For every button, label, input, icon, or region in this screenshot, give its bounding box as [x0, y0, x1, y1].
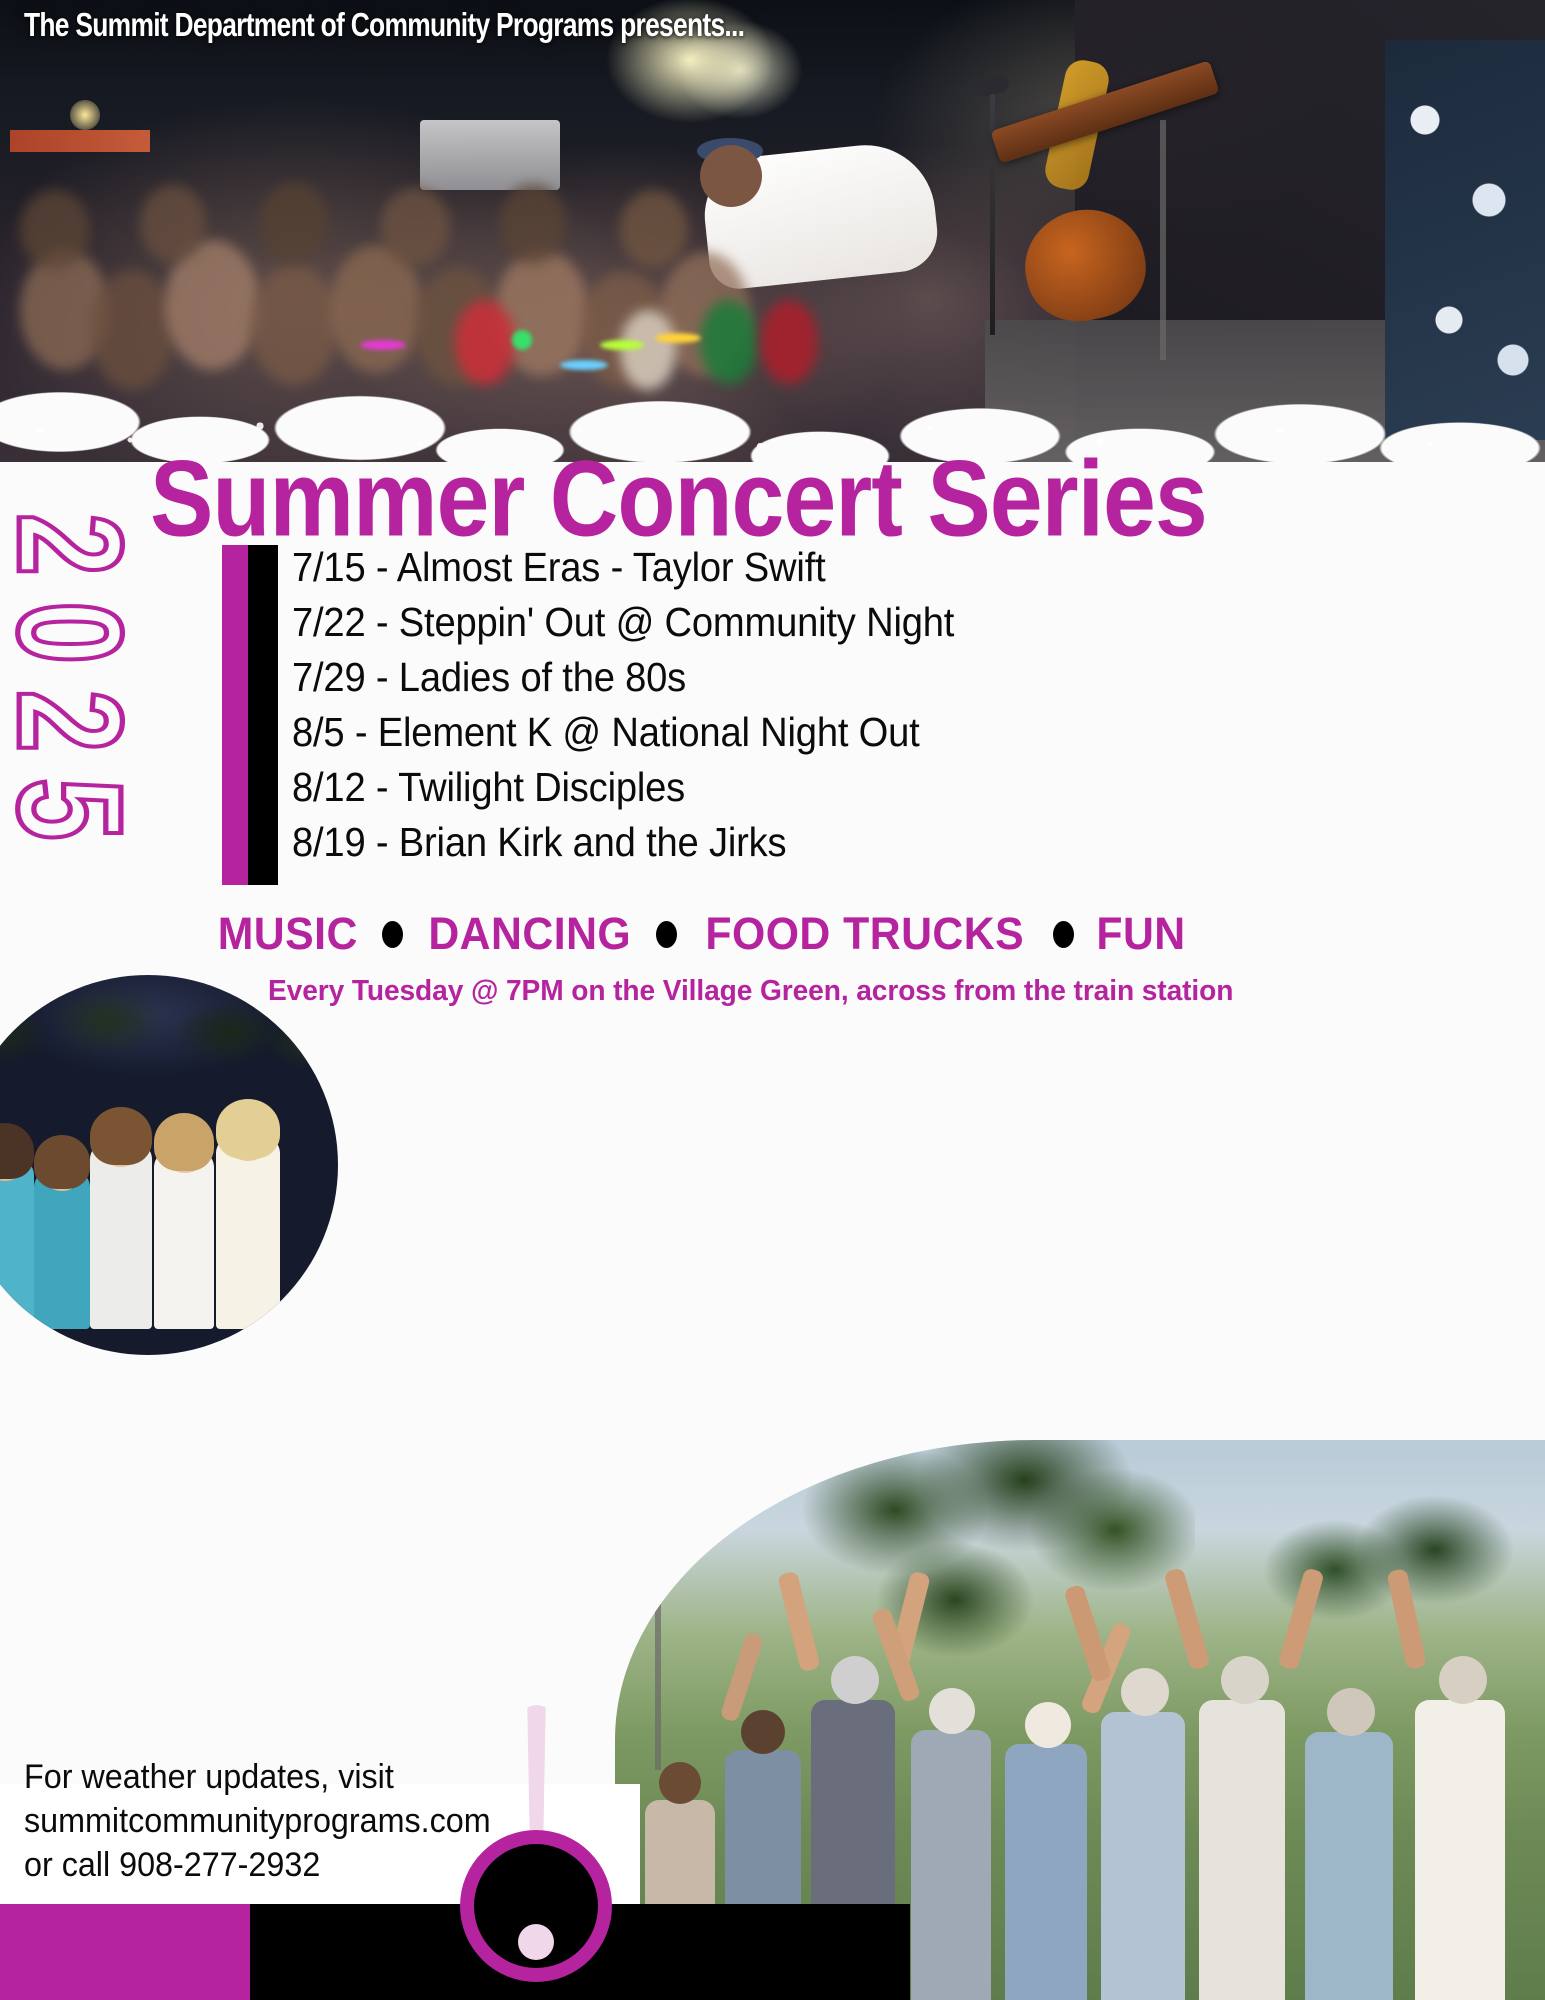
event-list: 7/15 - Almost Eras - Taylor Swift 7/22 -… — [292, 540, 1004, 870]
presents-header-text: The Summit Department of Community Progr… — [24, 6, 744, 44]
kid-figure — [154, 1151, 214, 1329]
crowd-figure — [500, 184, 566, 264]
glowstick — [600, 340, 644, 350]
crowd-person-head — [659, 1762, 701, 1804]
glowstick — [655, 333, 701, 343]
tagline-word-food-trucks: FOOD TRUCKS — [705, 908, 1024, 960]
tagline-row: MUSIC DANCING FOOD TRUCKS FUN — [214, 908, 1187, 960]
tagline-word-music: MUSIC — [218, 908, 358, 960]
crowd-person-head — [1327, 1688, 1375, 1736]
accent-bar-black — [248, 545, 278, 885]
weather-line-1: For weather updates, visit — [24, 1755, 491, 1799]
mic-stand — [990, 85, 995, 335]
crowd-figure — [380, 188, 450, 266]
food-truck — [420, 120, 560, 190]
bullet-dot-icon — [656, 921, 677, 948]
weather-website[interactable]: summitcommunityprograms.com — [24, 1799, 491, 1843]
crowd-figure — [620, 190, 688, 268]
kid-hair — [0, 1123, 34, 1179]
kid-hair — [34, 1135, 90, 1189]
tagline-word-fun: FUN — [1096, 908, 1185, 960]
tagline-word-dancing: DANCING — [428, 908, 631, 960]
kid-hair — [216, 1099, 280, 1159]
crowd-figure — [140, 185, 206, 263]
footer-color-bar — [0, 1904, 1545, 2000]
list-item: 7/29 - Ladies of the 80s — [292, 650, 954, 705]
kids-group-photo — [0, 975, 338, 1355]
crowd-figure — [250, 265, 338, 385]
crowd-person-head — [741, 1710, 785, 1754]
crowd-person-head — [1025, 1702, 1071, 1748]
bullet-dot-icon — [1053, 921, 1074, 948]
crowd-figure — [260, 182, 328, 262]
crowd-red-shirt — [760, 300, 818, 384]
footer-bar-magenta — [0, 1904, 250, 2000]
poster-root: The Summit Department of Community Progr… — [0, 0, 1545, 2000]
crowd-green-shirt — [700, 300, 758, 384]
list-item: 8/5 - Element K @ National Night Out — [292, 705, 954, 760]
singer-head — [700, 145, 762, 207]
glowstick — [360, 340, 406, 350]
schedule-location-line: Every Tuesday @ 7PM on the Village Green… — [268, 975, 1233, 1008]
list-item: 7/22 - Steppin' Out @ Community Night — [292, 595, 954, 650]
list-accent-bars — [222, 545, 278, 885]
crowd-person-head — [1221, 1656, 1269, 1704]
year-text: 2025 — [0, 513, 155, 866]
crowd-person-head — [929, 1688, 975, 1734]
utility-pole — [655, 1590, 661, 1770]
kid-figure — [0, 1159, 34, 1329]
crowd-person-head — [1121, 1668, 1169, 1716]
weather-info-block: For weather updates, visit summitcommuni… — [24, 1755, 491, 1887]
kid-hair — [154, 1113, 214, 1171]
raised-arm — [719, 1632, 764, 1723]
exclamation-mark-icon — [460, 1830, 612, 1982]
kid-figure — [216, 1137, 280, 1329]
list-item: 8/12 - Twilight Disciples — [292, 760, 954, 815]
crowd-person-head — [831, 1656, 879, 1704]
glowstick — [560, 360, 608, 370]
weather-phone[interactable]: or call 908-277-2932 — [24, 1843, 491, 1887]
streetlight-glow — [70, 100, 100, 130]
crowd-figure — [20, 190, 90, 270]
kid-figure — [34, 1171, 90, 1329]
crowd-figure — [90, 270, 175, 390]
kid-figure — [90, 1143, 152, 1329]
kid-hair — [90, 1107, 152, 1165]
vendor-tent — [10, 130, 150, 152]
crowd-red-shirt — [455, 300, 515, 385]
stage-pole — [1160, 120, 1166, 360]
accent-bar-magenta — [222, 545, 248, 885]
bullet-dot-icon — [382, 921, 403, 948]
glowstick — [512, 330, 532, 350]
crowd-person-head — [1439, 1656, 1487, 1704]
exclamation-dot — [518, 1924, 554, 1960]
year-badge: 2025 — [0, 440, 140, 940]
list-item: 8/19 - Brian Kirk and the Jirks — [292, 815, 954, 870]
page-title: Summer Concert Series — [150, 438, 1207, 561]
